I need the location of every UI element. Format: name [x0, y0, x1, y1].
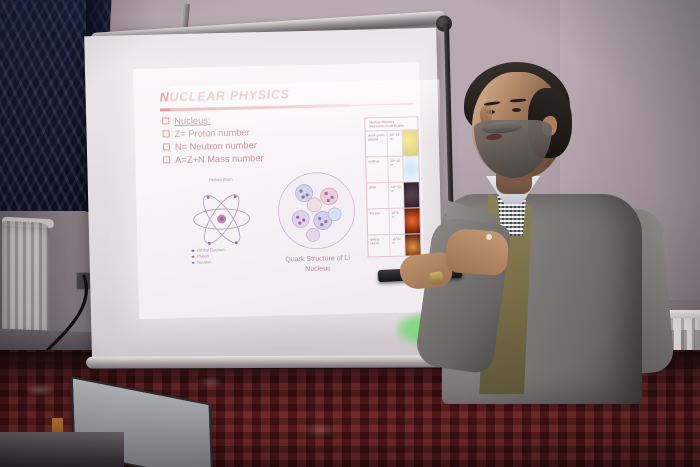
slide-title: NUCLEAR PHYSICS: [160, 87, 290, 104]
square-bullet-icon: [163, 143, 170, 150]
presenter-hand-right: [445, 228, 510, 276]
atom-diagram-legend: Orbital Electron Proton Neutron: [191, 247, 225, 266]
list-item: N= Neutron number: [163, 140, 264, 152]
bullet-label: N= Neutron number: [175, 140, 257, 152]
legend-dot-icon: [191, 249, 194, 252]
list-item: Z= Proton number: [162, 127, 263, 139]
legend-dot-icon: [192, 261, 195, 264]
wristwatch-icon: [429, 271, 443, 284]
quark-nucleus-diagram-icon: [276, 170, 358, 252]
bullet-label: A=Z+N Mass number: [175, 153, 264, 165]
slide-title-rule: [160, 104, 350, 112]
ring-icon: [486, 234, 492, 240]
legend-item: Neutron: [192, 259, 225, 266]
list-item: Nucleus:: [162, 114, 263, 126]
quark-caption-line2: Nucleus: [262, 263, 374, 276]
dark-table: [0, 432, 124, 467]
quark-diagram-caption: Quark Structure of Li Nucleus: [262, 253, 374, 276]
legend-dot-icon: [192, 255, 195, 258]
atom-diagram-icon: [188, 182, 256, 256]
list-item: A=Z+N Mass number: [163, 153, 264, 165]
presenter: [360, 44, 700, 400]
legend-label: Neutron: [197, 259, 211, 265]
presenter-eye: [512, 108, 521, 112]
bullet-label: Z= Proton number: [174, 127, 249, 139]
photograph: NUCLEAR PHYSICS Nucleus: Z= Proton numbe…: [0, 0, 700, 467]
square-bullet-icon: [162, 130, 169, 137]
slide-bullet-list: Nucleus: Z= Proton number N= Neutron num…: [162, 114, 264, 168]
square-bullet-icon: [163, 156, 170, 163]
square-bullet-icon: [162, 117, 169, 124]
bullet-label: Nucleus:: [174, 115, 210, 126]
